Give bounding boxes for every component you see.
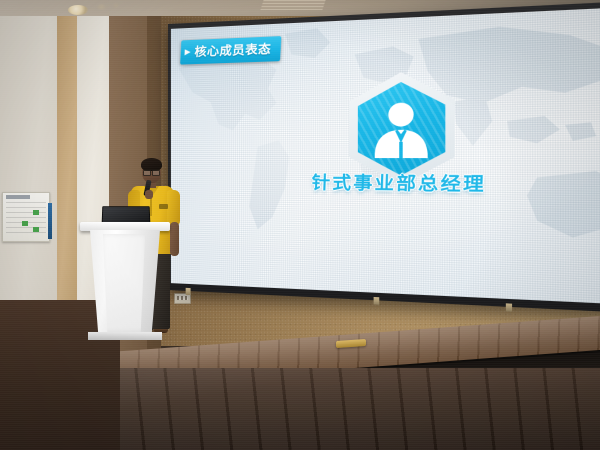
podium-base (88, 332, 162, 340)
wall-panel-rows (6, 202, 46, 237)
slide-section-banner: 核心成员表态 (180, 36, 281, 64)
shirt-logo (159, 204, 168, 209)
status-indicator (33, 210, 39, 215)
arrow-right-icon (185, 49, 191, 55)
status-indicator (33, 227, 39, 232)
downlight-icon (96, 4, 107, 10)
slide-banner-label: 核心成员表态 (194, 40, 272, 60)
wall-panel-header (6, 195, 30, 199)
screen-mount-bracket (506, 303, 512, 311)
shirt-sleeve-right (167, 190, 180, 226)
status-indicator (22, 221, 28, 226)
screen-mount-bracket (374, 297, 380, 305)
eyeglasses-icon (143, 169, 160, 174)
presenter-hand (145, 190, 153, 199)
screen-mount-bracket (186, 288, 191, 295)
panel-edge-strip (48, 203, 52, 239)
podium-front-panel (102, 234, 146, 332)
podium-top-surface (80, 222, 170, 231)
wall-control-panel[interactable] (2, 192, 50, 242)
downlight-icon (68, 5, 88, 15)
laptop-screen (102, 206, 151, 223)
presenter-arm-right (170, 222, 179, 256)
led-screen: 核心成员表态 针式事业部总经理 (168, 0, 600, 315)
businessman-person-icon (358, 81, 445, 176)
presentation-scene: 核心成员表态 针式事业部总经理 (0, 0, 600, 450)
podium (82, 222, 168, 340)
air-vent-icon (260, 0, 325, 10)
screen-surface: 核心成员表态 针式事业部总经理 (171, 5, 600, 306)
downlight-icon (112, 3, 120, 8)
